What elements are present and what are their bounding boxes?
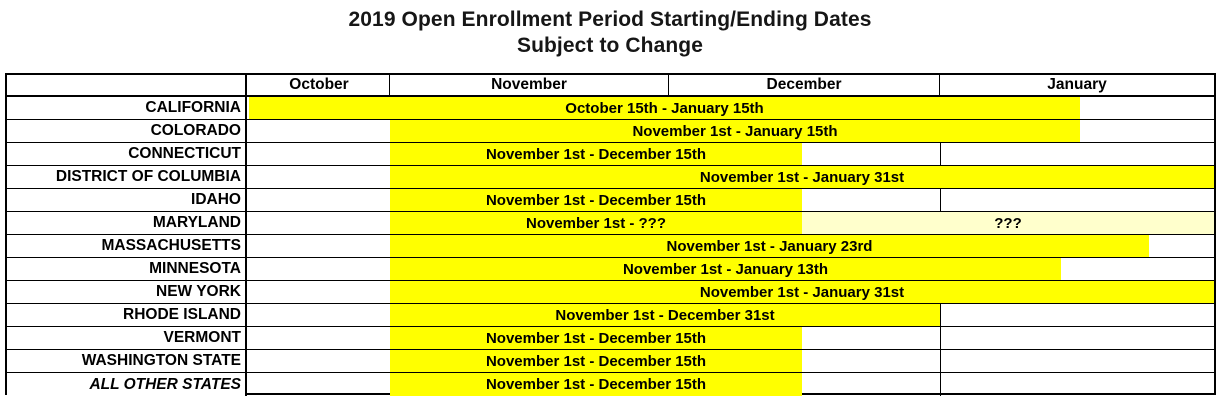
state-label-connecticut: CONNECTICUT: [7, 143, 247, 165]
state-label-all-other-states: ALL OTHER STATES: [7, 373, 247, 396]
table-row: DISTRICT OF COLUMBIANovember 1st - Janua…: [7, 166, 1214, 189]
state-label-district-of-columbia: DISTRICT OF COLUMBIA: [7, 166, 247, 188]
duration-bar: November 1st - December 15th: [390, 350, 802, 372]
duration-bar-label: November 1st - January 15th: [632, 124, 837, 139]
table-row: MARYLANDNovember 1st - ??????: [7, 212, 1214, 235]
state-label-colorado: COLORADO: [7, 120, 247, 142]
duration-bar-label: November 1st - January 13th: [623, 262, 828, 277]
duration-bar: November 1st - December 15th: [390, 327, 802, 349]
month-header-january: January: [940, 75, 1214, 95]
duration-bar: November 1st - December 15th: [390, 373, 802, 396]
table-header-row: OctoberNovemberDecemberJanuary: [7, 75, 1214, 97]
table-row: VERMONTNovember 1st - December 15th: [7, 327, 1214, 350]
title-line-2: Subject to Change: [0, 33, 1220, 59]
state-label-minnesota: MINNESOTA: [7, 258, 247, 280]
duration-bar-label: November 1st - January 23rd: [667, 239, 873, 254]
duration-bar: November 1st - December 15th: [390, 143, 802, 165]
state-label-maryland: MARYLAND: [7, 212, 247, 234]
table-row: RHODE ISLANDNovember 1st - December 31st: [7, 304, 1214, 327]
duration-bar: November 1st - January 23rd: [390, 235, 1149, 257]
duration-bar-label: November 1st - January 31st: [700, 170, 904, 185]
duration-bar-label: November 1st - December 31st: [555, 308, 774, 323]
duration-bar-label: November 1st - December 15th: [486, 354, 706, 369]
month-header-december: December: [669, 75, 940, 95]
duration-bar-label: November 1st - January 31st: [700, 285, 904, 300]
table-row: MINNESOTANovember 1st - January 13th: [7, 258, 1214, 281]
duration-bar: November 1st - December 15th: [390, 189, 802, 211]
grid-line-january: [940, 189, 941, 211]
table-row: IDAHONovember 1st - December 15th: [7, 189, 1214, 212]
state-label-washington-state: WASHINGTON STATE: [7, 350, 247, 372]
enrollment-schedule-table: OctoberNovemberDecemberJanuary CALIFORNI…: [5, 73, 1216, 395]
duration-bar-label: November 1st - December 15th: [486, 147, 706, 162]
page-title: 2019 Open Enrollment Period Starting/End…: [0, 0, 1220, 59]
duration-bar: November 1st - ???: [390, 212, 802, 234]
table-row: ALL OTHER STATESNovember 1st - December …: [7, 373, 1214, 396]
duration-bar-label: November 1st - December 15th: [486, 377, 706, 392]
state-label-california: CALIFORNIA: [7, 97, 247, 119]
table-row: CALIFORNIAOctober 15th - January 15th: [7, 97, 1214, 120]
duration-bar: November 1st - January 13th: [390, 258, 1061, 280]
month-header-october: October: [249, 75, 390, 95]
table-row: NEW YORKNovember 1st - January 31st: [7, 281, 1214, 304]
duration-bar-label: ???: [994, 216, 1022, 231]
duration-bar: ???: [802, 212, 1214, 234]
grid-line-january: [940, 143, 941, 165]
duration-bar-label: November 1st - ???: [526, 216, 666, 231]
month-header-november: November: [390, 75, 669, 95]
table-row: COLORADONovember 1st - January 15th: [7, 120, 1214, 143]
table-body: CALIFORNIAOctober 15th - January 15thCOL…: [7, 97, 1214, 396]
grid-line-january: [940, 350, 941, 372]
state-label-rhode-island: RHODE ISLAND: [7, 304, 247, 326]
duration-bar: November 1st - January 15th: [390, 120, 1080, 142]
duration-bar: November 1st - December 31st: [390, 304, 940, 326]
duration-bar: October 15th - January 15th: [249, 97, 1080, 119]
duration-bar-label: November 1st - December 15th: [486, 331, 706, 346]
table-row: MASSACHUSETTSNovember 1st - January 23rd: [7, 235, 1214, 258]
duration-bar: November 1st - January 31st: [390, 166, 1214, 188]
grid-line-january: [940, 304, 941, 326]
state-label-massachusetts: MASSACHUSETTS: [7, 235, 247, 257]
title-line-1: 2019 Open Enrollment Period Starting/End…: [0, 7, 1220, 33]
duration-bar-label: November 1st - December 15th: [486, 193, 706, 208]
table-row: WASHINGTON STATENovember 1st - December …: [7, 350, 1214, 373]
state-label-idaho: IDAHO: [7, 189, 247, 211]
state-label-vermont: VERMONT: [7, 327, 247, 349]
grid-line-january: [940, 373, 941, 396]
duration-bar-label: October 15th - January 15th: [565, 101, 763, 116]
duration-bar: November 1st - January 31st: [390, 281, 1214, 303]
table-row: CONNECTICUTNovember 1st - December 15th: [7, 143, 1214, 166]
grid-line-january: [940, 327, 941, 349]
state-label-new-york: NEW YORK: [7, 281, 247, 303]
header-label-cell: [7, 75, 247, 95]
